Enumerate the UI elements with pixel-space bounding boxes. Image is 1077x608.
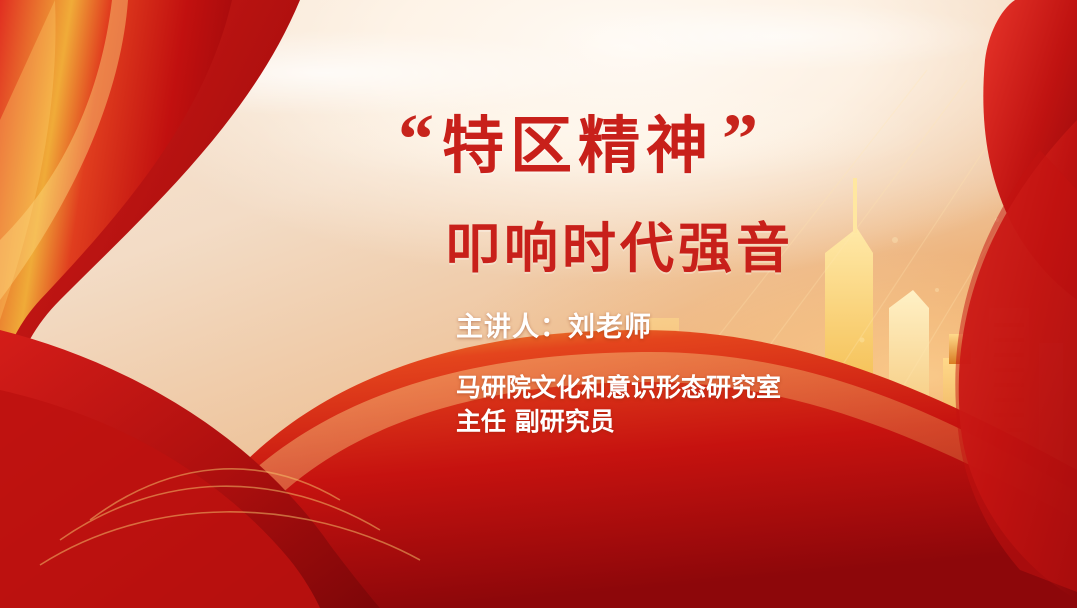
- presentation-slide: “ 特区精神 ” 叩响时代强音 主讲人：刘老师 马研院文化和意识形态研究室主任 …: [0, 0, 1077, 608]
- city-skyline-illustration: [557, 158, 1077, 538]
